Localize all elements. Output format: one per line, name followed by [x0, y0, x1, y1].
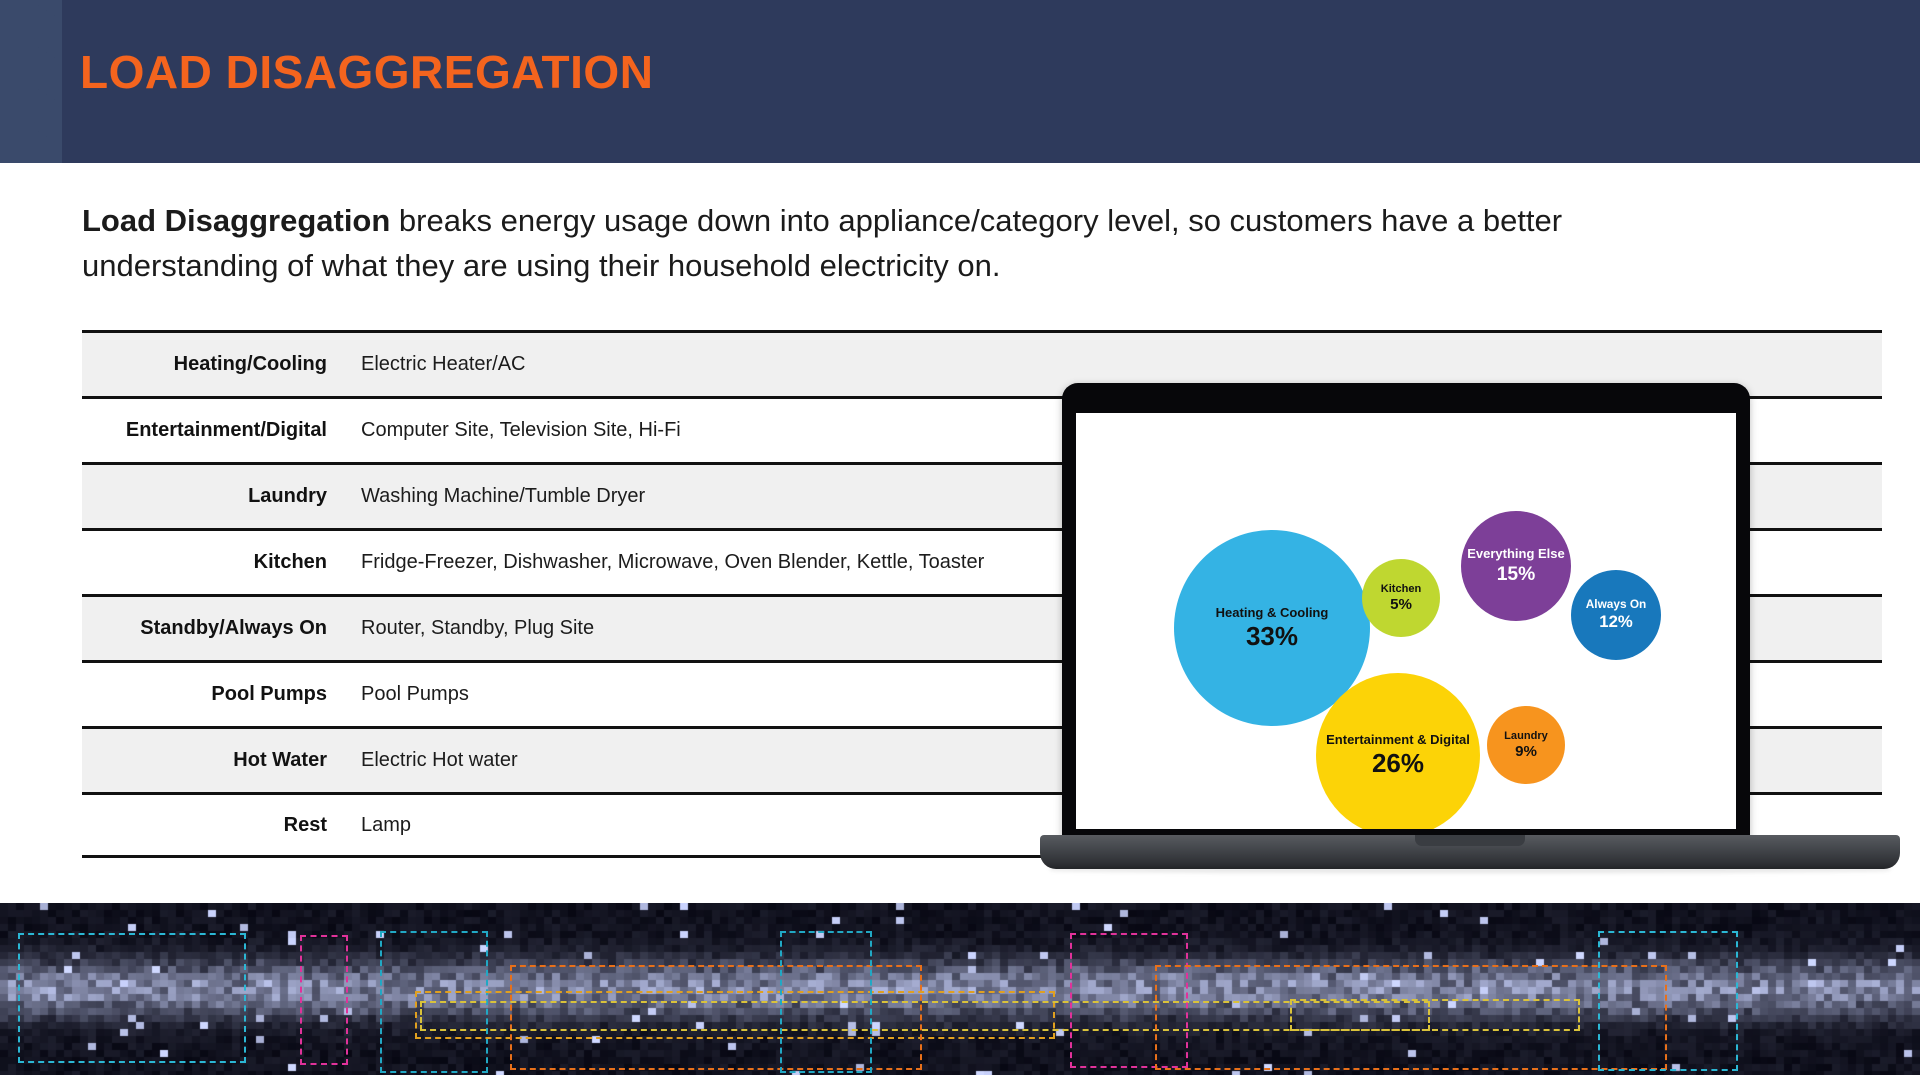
table-cell-category: Entertainment/Digital: [82, 419, 337, 442]
bubble-chart: Heating & Cooling33%Entertainment & Digi…: [1076, 413, 1736, 829]
bubble-everything-else: Everything Else15%: [1461, 511, 1571, 621]
bubble-label: Kitchen: [1381, 583, 1422, 595]
table-cell-category: Pool Pumps: [82, 683, 337, 706]
bubble-laundry: Laundry9%: [1487, 706, 1565, 784]
bubble-label: Laundry: [1504, 730, 1548, 742]
zigzag-decoration-icon: [0, 0, 62, 163]
bubble-value: 15%: [1497, 564, 1536, 585]
laptop-mockup: Heating & Cooling33%Entertainment & Digi…: [1040, 383, 1730, 873]
selection-box: [1290, 999, 1580, 1031]
laptop-shadow: [1050, 867, 1890, 873]
bubble-label: Everything Else: [1467, 547, 1565, 561]
spectrogram-band: [0, 903, 1920, 1075]
selection-box: [18, 933, 246, 1063]
selection-box: [780, 931, 872, 1073]
bubble-value: 26%: [1372, 749, 1424, 778]
bubble-value: 5%: [1390, 597, 1412, 614]
laptop-base-notch: [1415, 835, 1525, 846]
bubble-label: Always On: [1586, 598, 1647, 611]
bubble-value: 9%: [1515, 744, 1537, 761]
table-cell-category: Standby/Always On: [82, 617, 337, 640]
bubble-entertainment-digital: Entertainment & Digital26%: [1316, 673, 1480, 829]
laptop-base: [1040, 835, 1900, 869]
laptop-lid: Heating & Cooling33%Entertainment & Digi…: [1062, 383, 1750, 843]
table-cell-category: Laundry: [82, 485, 337, 508]
intro-paragraph: Load Disaggregation breaks energy usage …: [82, 198, 1692, 288]
bubble-value: 12%: [1599, 613, 1632, 631]
bubble-label: Heating & Cooling: [1216, 606, 1329, 620]
table-cell-value: Electric Heater/AC: [337, 353, 1882, 376]
table-cell-category: Hot Water: [82, 749, 337, 772]
bubble-always-on: Always On12%: [1571, 570, 1661, 660]
intro-lead: Load Disaggregation: [82, 203, 390, 238]
page-title: LOAD DISAGGREGATION: [80, 45, 653, 99]
slide-header: LOAD DISAGGREGATION: [0, 0, 1920, 163]
selection-box: [1598, 931, 1738, 1071]
laptop-screen: Heating & Cooling33%Entertainment & Digi…: [1076, 413, 1736, 829]
bubble-value: 33%: [1246, 622, 1298, 651]
table-cell-category: Rest: [82, 814, 337, 837]
table-cell-category: Kitchen: [82, 551, 337, 574]
table-cell-category: Heating/Cooling: [82, 353, 337, 376]
bubble-kitchen: Kitchen5%: [1362, 559, 1440, 637]
selection-box: [300, 935, 348, 1065]
bubble-label: Entertainment & Digital: [1326, 733, 1470, 747]
slide-root: LOAD DISAGGREGATION Load Disaggregation …: [0, 0, 1920, 1075]
